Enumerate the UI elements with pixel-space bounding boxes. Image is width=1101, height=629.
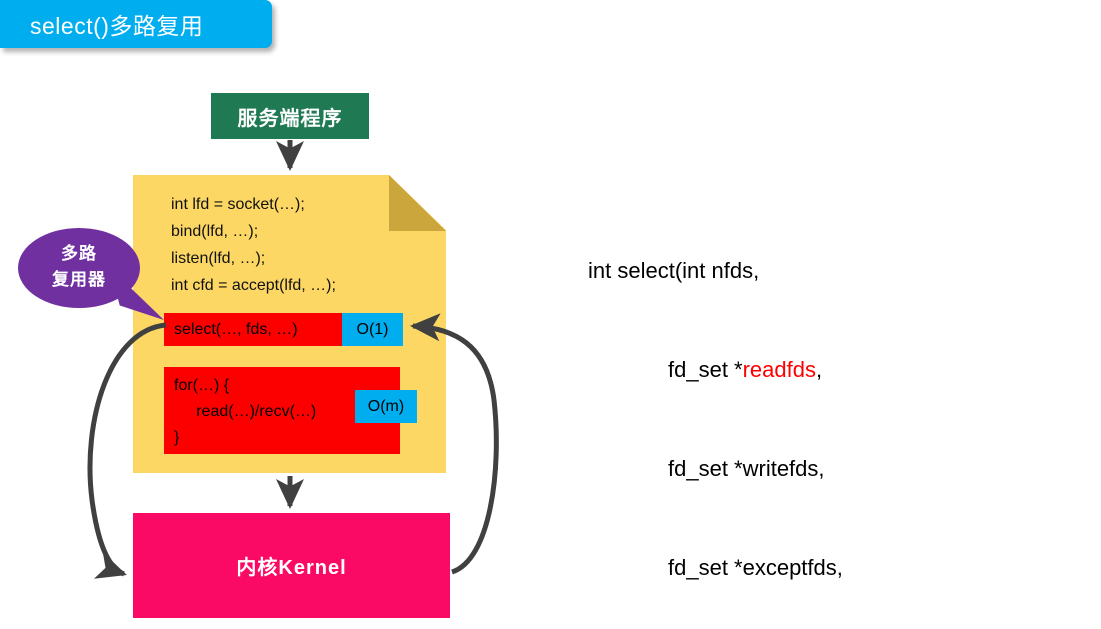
select-api-listing: int select(int nfds, fd_set *readfds, fd…	[588, 188, 898, 629]
callout-line-2: 复用器	[18, 267, 140, 293]
code-line: listen(lfd, …);	[171, 245, 336, 272]
api-readfds-suffix: ,	[816, 357, 822, 382]
code-line: int cfd = accept(lfd, …);	[171, 272, 336, 299]
api-line-signature: int select(int nfds,	[588, 254, 898, 287]
api-readfds-highlight: readfds	[743, 357, 816, 382]
api-exceptfds-text: fd_set *exceptfds,	[668, 555, 843, 580]
code-card-lines: int lfd = socket(…); bind(lfd, …); liste…	[171, 191, 336, 299]
slide-title-banner: select()多路复用	[0, 0, 272, 48]
code-line: int lfd = socket(…);	[171, 191, 336, 218]
server-program-box: 服务端程序	[211, 93, 369, 139]
server-program-label: 服务端程序	[238, 102, 343, 131]
code-line: bind(lfd, …);	[171, 218, 336, 245]
kernel-box: 内核Kernel	[133, 513, 450, 618]
slide-canvas: select()多路复用 服务端程序 int lfd = socket(…); …	[0, 0, 1101, 629]
loop-complexity-badge: O(m)	[355, 390, 417, 423]
api-line-writefds: fd_set *writefds,	[588, 452, 898, 485]
loop-complexity-label: O(m)	[368, 398, 404, 416]
read-loop-code: for(…) { read(…)/recv(…) }	[174, 373, 316, 451]
select-complexity-label: O(1)	[357, 321, 389, 339]
select-call-label: select(…, fds, …)	[164, 321, 298, 339]
callout-line-1: 多路	[18, 241, 140, 267]
multiplexer-callout: 多路 复用器	[18, 228, 164, 320]
api-line-exceptfds: fd_set *exceptfds,	[588, 551, 898, 584]
api-line-readfds: fd_set *readfds,	[588, 353, 898, 386]
slide-title-text: select()多路复用	[0, 7, 203, 41]
api-readfds-prefix: fd_set *	[668, 357, 743, 382]
select-complexity-badge: O(1)	[342, 313, 403, 346]
kernel-label: 内核Kernel	[236, 551, 346, 580]
api-writefds-text: fd_set *writefds,	[668, 456, 825, 481]
multiplexer-callout-text: 多路 复用器	[18, 241, 140, 293]
